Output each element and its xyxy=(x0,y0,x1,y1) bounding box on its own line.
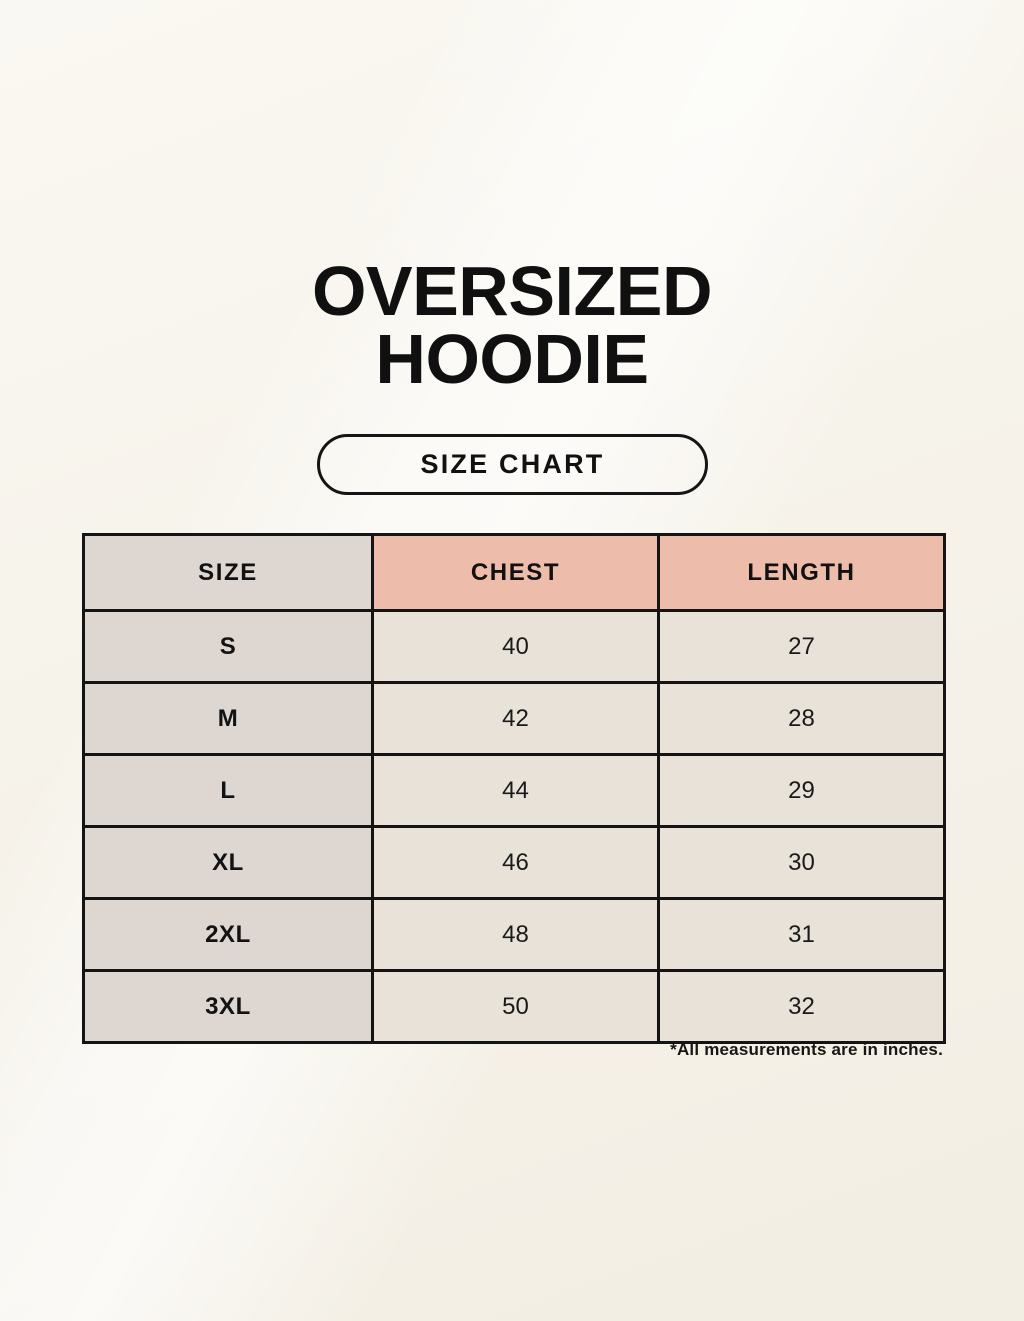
table-row: L 44 29 xyxy=(84,755,945,827)
cell-size: 3XL xyxy=(84,971,373,1043)
column-header-chest: CHEST xyxy=(373,535,659,611)
table-header: SIZE CHEST LENGTH xyxy=(84,535,945,611)
cell-size: S xyxy=(84,611,373,683)
size-chart-page: OVERSIZED HOODIE SIZE CHART SIZE CHEST L… xyxy=(0,0,1024,1321)
cell-length: 30 xyxy=(659,827,945,899)
size-table-wrap: SIZE CHEST LENGTH S 40 27 M 42 28 L xyxy=(82,533,943,1044)
table-row: XL 46 30 xyxy=(84,827,945,899)
cell-length: 27 xyxy=(659,611,945,683)
size-chart-badge-wrap: SIZE CHART xyxy=(317,434,708,495)
page-title: OVERSIZED HOODIE xyxy=(0,258,1024,394)
cell-length: 28 xyxy=(659,683,945,755)
table-body: S 40 27 M 42 28 L 44 29 XL 46 30 xyxy=(84,611,945,1043)
table-header-row: SIZE CHEST LENGTH xyxy=(84,535,945,611)
size-chart-badge-label: SIZE CHART xyxy=(421,449,605,480)
column-header-length: LENGTH xyxy=(659,535,945,611)
cell-size: XL xyxy=(84,827,373,899)
cell-chest: 44 xyxy=(373,755,659,827)
cell-size: M xyxy=(84,683,373,755)
measurements-footnote: *All measurements are in inches. xyxy=(82,1040,943,1060)
cell-size: L xyxy=(84,755,373,827)
cell-size: 2XL xyxy=(84,899,373,971)
cell-chest: 46 xyxy=(373,827,659,899)
table-row: 3XL 50 32 xyxy=(84,971,945,1043)
title-block: OVERSIZED HOODIE xyxy=(0,258,1024,394)
size-chart-badge: SIZE CHART xyxy=(317,434,708,495)
cell-chest: 42 xyxy=(373,683,659,755)
size-chart-table: SIZE CHEST LENGTH S 40 27 M 42 28 L xyxy=(82,533,946,1044)
cell-length: 32 xyxy=(659,971,945,1043)
cell-chest: 48 xyxy=(373,899,659,971)
cell-chest: 50 xyxy=(373,971,659,1043)
table-row: 2XL 48 31 xyxy=(84,899,945,971)
cell-chest: 40 xyxy=(373,611,659,683)
table-row: M 42 28 xyxy=(84,683,945,755)
cell-length: 29 xyxy=(659,755,945,827)
cell-length: 31 xyxy=(659,899,945,971)
column-header-size: SIZE xyxy=(84,535,373,611)
table-row: S 40 27 xyxy=(84,611,945,683)
